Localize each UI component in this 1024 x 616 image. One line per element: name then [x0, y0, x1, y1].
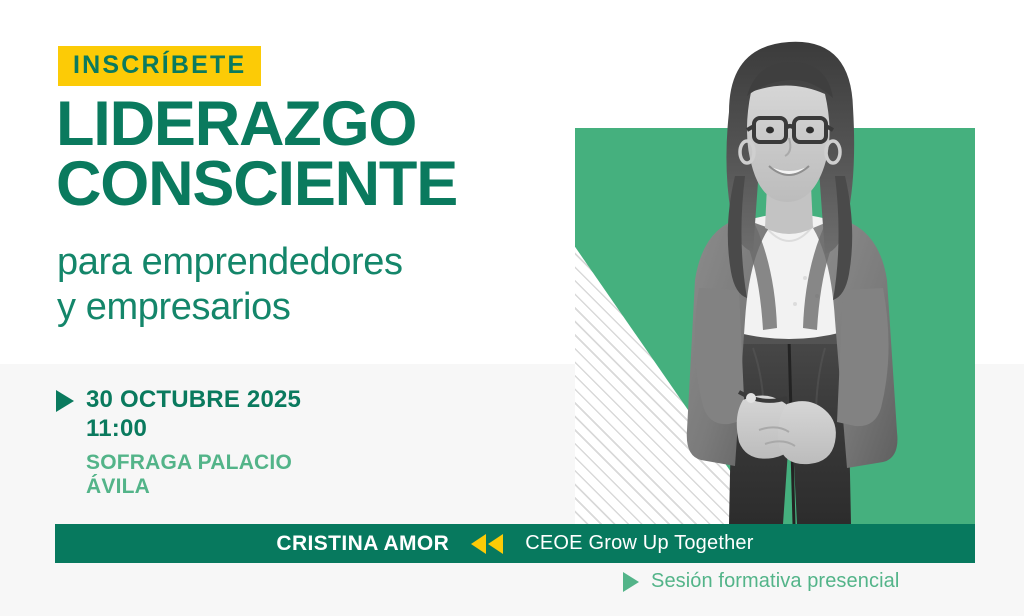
event-time: 11:00 [86, 414, 301, 443]
speaker-bar: CRISTINA AMOR CEOE Grow Up Together [55, 524, 975, 563]
event-venue-city: ÁVILA [86, 475, 301, 500]
page-subtitle: para emprendedores y empresarios [57, 240, 403, 330]
badge-label: INSCRÍBETE [73, 51, 246, 79]
subheadline-line-2: y empresarios [57, 285, 403, 330]
subheadline-line-1: para emprendedores [57, 240, 403, 285]
page-title: LIDERAZGO CONSCIENTE [56, 94, 457, 215]
portrait-illustration [655, 26, 920, 524]
organization-name: CEOE Grow Up Together [525, 532, 753, 555]
event-details: 30 OCTUBRE 2025 11:00 SOFRAGA PALACIO ÁV… [56, 385, 301, 500]
event-venue-name: SOFRAGA PALACIO [86, 451, 301, 476]
headline-line-2: CONSCIENTE [56, 154, 457, 214]
triangle-right-icon [623, 572, 639, 592]
event-detail-lines: 30 OCTUBRE 2025 11:00 SOFRAGA PALACIO ÁV… [86, 385, 301, 500]
double-triangle-left-icon [471, 534, 503, 554]
headline-line-1: LIDERAZGO [56, 94, 457, 154]
tagline-label: Sesión formativa presencial [651, 570, 899, 593]
triangle-left-icon-1 [471, 534, 486, 554]
session-tagline: Sesión formativa presencial [623, 570, 899, 593]
speaker-portrait [655, 26, 920, 524]
triangle-right-icon [56, 390, 74, 412]
inscribete-badge[interactable]: INSCRÍBETE [58, 46, 261, 86]
speaker-name: CRISTINA AMOR [276, 532, 449, 556]
event-date: 30 OCTUBRE 2025 [86, 385, 301, 414]
triangle-left-icon-2 [488, 534, 503, 554]
